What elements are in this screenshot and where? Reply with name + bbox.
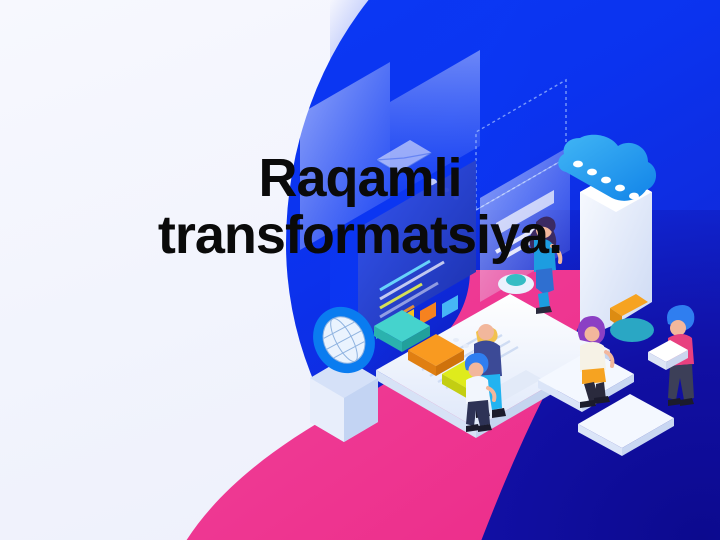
page-title: Raqamli transformatsiya.	[0, 150, 720, 263]
person-carrying-box	[648, 305, 694, 406]
slide-canvas: Raqamli transformatsiya.	[0, 0, 720, 540]
title-line-2: transformatsiya.	[8, 207, 712, 264]
coffee-cup	[498, 274, 534, 294]
title-line-1: Raqamli	[8, 150, 712, 207]
